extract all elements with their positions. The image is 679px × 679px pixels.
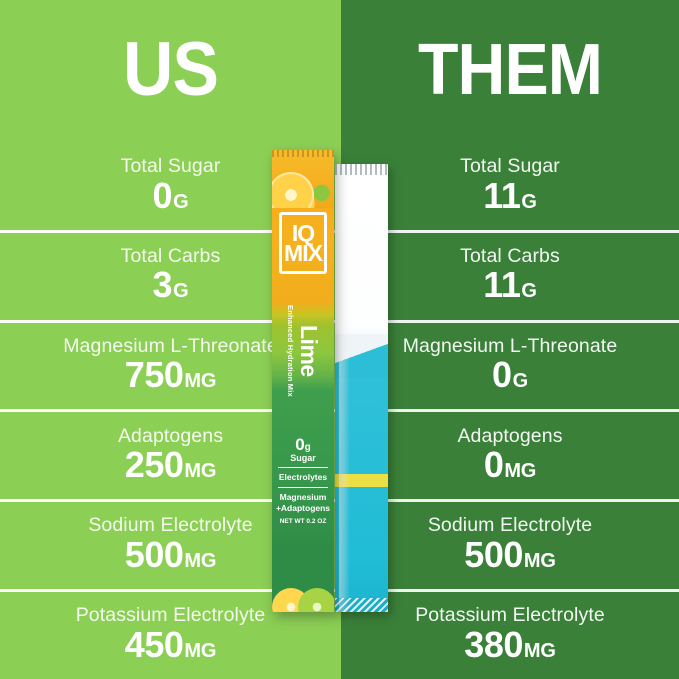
row-value: 750 MG [125,357,216,393]
value-number: 500 [464,537,523,573]
value-unit: G [513,371,528,391]
row-label: Sodium Electrolyte [428,515,592,535]
them-row-total-sugar: Total Sugar 11 G [341,140,679,230]
them-row-sodium-electrolyte: Sodium Electrolyte 500 MG [341,499,679,589]
value-number: 450 [125,627,184,663]
us-row-total-sugar: Total Sugar 0 G [0,140,341,230]
value-number: 250 [125,447,184,483]
us-rows: Total Sugar 0 G Total Carbs 3 G Magnesiu… [0,140,341,679]
row-value: 0 G [153,178,189,214]
value-unit: G [173,192,188,212]
value-number: 3 [153,267,173,303]
row-label: Potassium Electrolyte [76,605,266,625]
them-row-total-carbs: Total Carbs 11 G [341,230,679,320]
us-row-adaptogens: Adaptogens 250 MG [0,409,341,499]
row-value: 450 MG [125,627,216,663]
them-rows: Total Sugar 11 G Total Carbs 11 G Magnes… [341,140,679,679]
value-unit: MG [184,461,216,481]
value-number: 380 [464,627,523,663]
value-number: 500 [125,537,184,573]
us-row-potassium-electrolyte: Potassium Electrolyte 450 MG [0,589,341,679]
row-label: Magnesium L-Threonate [403,336,618,356]
value-number: 0 [484,447,504,483]
us-row-magnesium-l-threonate: Magnesium L-Threonate 750 MG [0,320,341,410]
row-value: 250 MG [125,447,216,483]
row-label: Total Sugar [460,156,560,176]
row-value: 500 MG [464,537,555,573]
row-value: 380 MG [464,627,555,663]
value-unit: MG [524,551,556,571]
value-number: 0 [153,178,173,214]
row-value: 3 G [153,267,189,303]
them-row-magnesium-l-threonate: Magnesium L-Threonate 0 G [341,320,679,410]
us-row-sodium-electrolyte: Sodium Electrolyte 500 MG [0,499,341,589]
value-number: 0 [492,357,512,393]
us-side: US Total Sugar 0 G Total Carbs 3 G [0,0,341,679]
row-value: 11 G [483,178,536,214]
row-label: Adaptogens [457,426,562,446]
value-unit: MG [184,551,216,571]
row-label: Potassium Electrolyte [415,605,605,625]
row-value: 500 MG [125,537,216,573]
us-row-total-carbs: Total Carbs 3 G [0,230,341,320]
row-value: 0 MG [484,447,536,483]
value-unit: G [521,192,536,212]
comparison-grid: US Total Sugar 0 G Total Carbs 3 G [0,0,679,679]
row-value: 0 G [492,357,528,393]
row-value: 11 G [483,267,536,303]
them-side: THEM Total Sugar 11 G Total Carbs 11 G [341,0,679,679]
row-label: Total Carbs [121,246,221,266]
value-unit: G [521,281,536,301]
value-number: 750 [125,357,184,393]
value-unit: MG [184,371,216,391]
row-label: Sodium Electrolyte [88,515,252,535]
us-header-title: US [14,0,328,140]
comparison-infographic: US Total Sugar 0 G Total Carbs 3 G [0,0,679,679]
row-label: Total Sugar [121,156,221,176]
row-label: Total Carbs [460,246,560,266]
value-unit: MG [504,461,536,481]
them-row-potassium-electrolyte: Potassium Electrolyte 380 MG [341,589,679,679]
value-unit: G [173,281,188,301]
row-label: Adaptogens [118,426,223,446]
them-row-adaptogens: Adaptogens 0 MG [341,409,679,499]
value-number: 11 [483,178,520,214]
them-header-title: THEM [355,0,666,140]
value-number: 11 [483,267,520,303]
row-label: Magnesium L-Threonate [63,336,278,356]
value-unit: MG [524,641,556,661]
value-unit: MG [184,641,216,661]
